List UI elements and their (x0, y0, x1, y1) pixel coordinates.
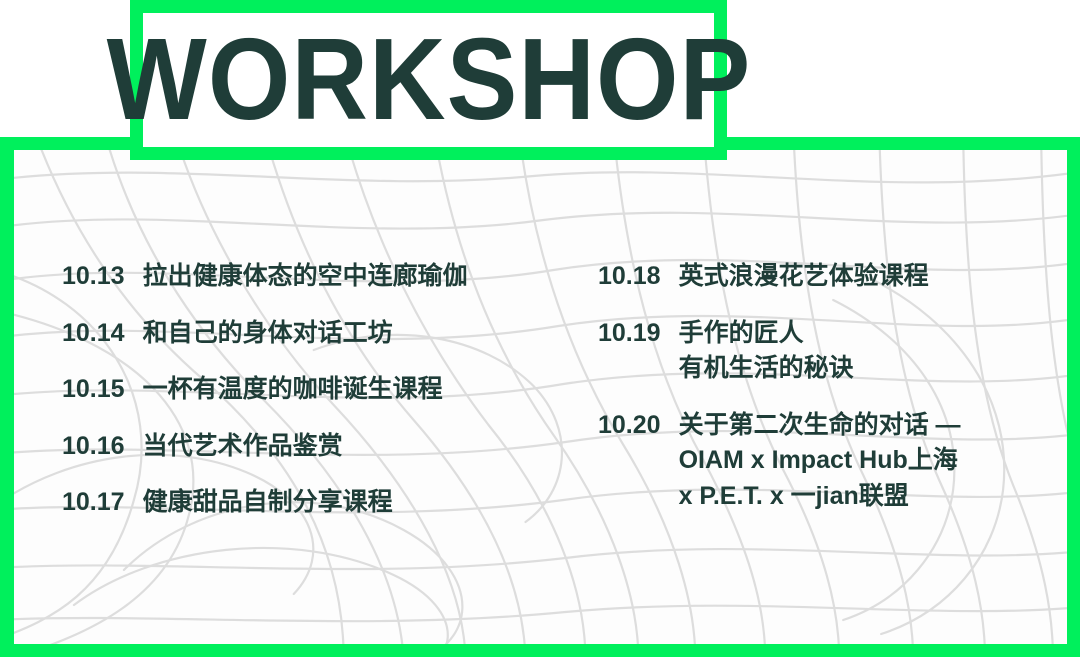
entry-title-line: 英式浪漫花艺体验课程 (679, 259, 929, 295)
entry-date: 10.14 (62, 316, 125, 352)
entry-title-line: 手作的匠人 (679, 316, 854, 352)
entry-title-line: 当代艺术作品鉴赏 (143, 429, 343, 465)
entry-date: 10.13 (62, 259, 125, 295)
schedule-entry[interactable]: 10.13 拉出健康体态的空中连廊瑜伽 (62, 259, 582, 295)
entry-date: 10.16 (62, 429, 125, 465)
schedule-entry[interactable]: 10.17 健康甜品自制分享课程 (62, 485, 582, 521)
entry-titles: 当代艺术作品鉴赏 (143, 429, 343, 465)
schedule-entry[interactable]: 10.15 一杯有温度的咖啡诞生课程 (62, 372, 582, 408)
entry-titles: 一杯有温度的咖啡诞生课程 (143, 372, 443, 408)
schedule-entry[interactable]: 10.18 英式浪漫花艺体验课程 (598, 259, 1068, 295)
entry-titles: 手作的匠人 有机生活的秘诀 (679, 316, 854, 387)
entry-title-line: OIAM x Impact Hub上海 (679, 443, 961, 479)
entry-date: 10.18 (598, 259, 661, 295)
entry-title-line: 健康甜品自制分享课程 (143, 485, 393, 521)
entry-titles: 关于第二次生命的对话 — OIAM x Impact Hub上海 x P.E.T… (679, 408, 961, 515)
workshop-poster: 10.13 拉出健康体态的空中连廊瑜伽 10.14 和自己的身体对话工坊 10.… (0, 0, 1080, 657)
schedule-entry[interactable]: 10.14 和自己的身体对话工坊 (62, 316, 582, 352)
entry-date: 10.19 (598, 316, 661, 352)
page-title: WORKSHOP (106, 22, 751, 138)
entry-date: 10.20 (598, 408, 661, 444)
entry-title-line: 一杯有温度的咖啡诞生课程 (143, 372, 443, 408)
entry-titles: 健康甜品自制分享课程 (143, 485, 393, 521)
entry-title-line: 拉出健康体态的空中连廊瑜伽 (143, 259, 468, 295)
title-plate: WORKSHOP (130, 0, 727, 160)
entry-titles: 英式浪漫花艺体验课程 (679, 259, 929, 295)
entry-titles: 和自己的身体对话工坊 (143, 316, 393, 352)
schedule-entry[interactable]: 10.20 关于第二次生命的对话 — OIAM x Impact Hub上海 x… (598, 408, 1068, 515)
schedule-entry[interactable]: 10.19 手作的匠人 有机生活的秘诀 (598, 316, 1068, 387)
entry-title-line: 关于第二次生命的对话 — (679, 408, 961, 444)
entry-title-line: 有机生活的秘诀 (679, 351, 854, 387)
entry-titles: 拉出健康体态的空中连廊瑜伽 (143, 259, 468, 295)
entry-title-line: x P.E.T. x 一jian联盟 (679, 479, 961, 515)
entry-title-line: 和自己的身体对话工坊 (143, 316, 393, 352)
entry-date: 10.17 (62, 485, 125, 521)
schedule-entry[interactable]: 10.16 当代艺术作品鉴赏 (62, 429, 582, 465)
entry-date: 10.15 (62, 372, 125, 408)
